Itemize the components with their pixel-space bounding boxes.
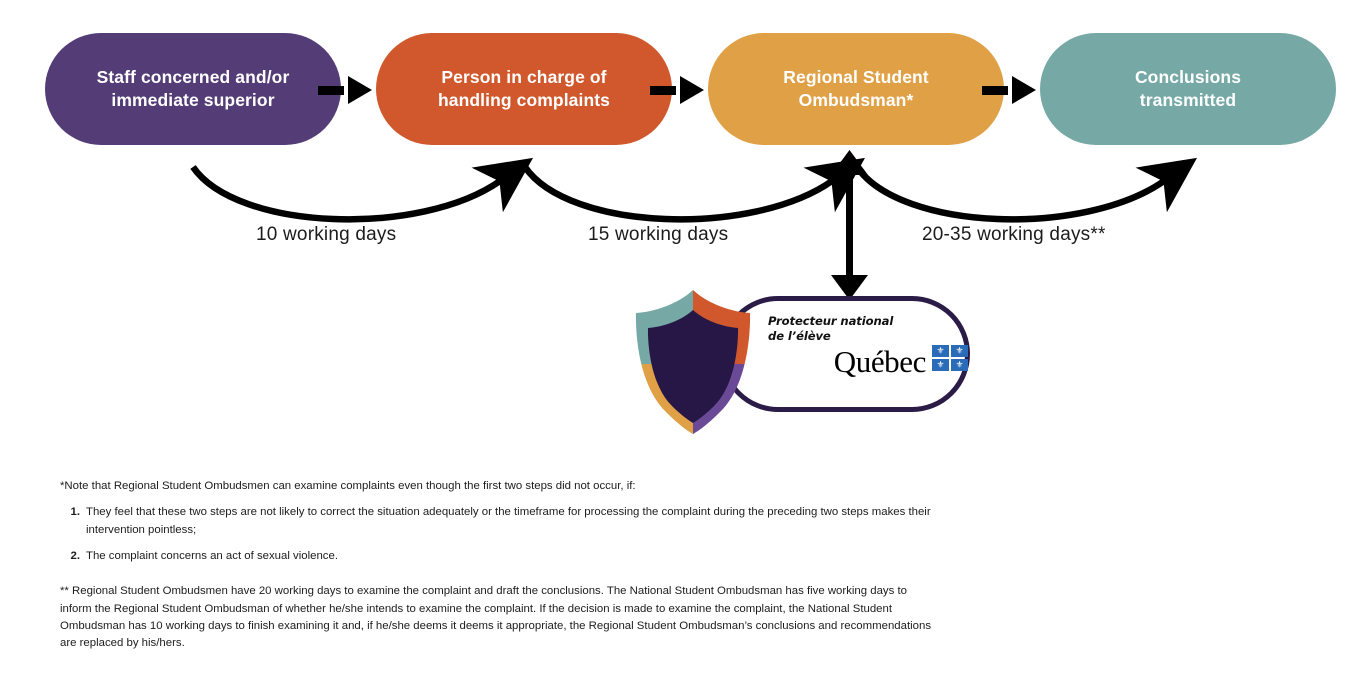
duration-label-2: 15 working days xyxy=(588,224,728,246)
curved-arrow-step1-step2 xyxy=(193,167,500,219)
svg-text:⚜: ⚜ xyxy=(936,346,944,356)
footnote-item-text: They feel that these two steps are not l… xyxy=(86,506,931,535)
flow-step-label-line1: Conclusions xyxy=(1135,66,1241,89)
footnote-list-item: 2. The complaint concerns an act of sexu… xyxy=(60,548,940,565)
flow-step-label-line2: immediate superior xyxy=(97,89,290,112)
arrow-right-icon xyxy=(680,76,704,104)
quebec-wordmark: Québec xyxy=(834,346,926,377)
connector-bar xyxy=(982,86,1008,95)
flow-step-label-line1: Regional Student xyxy=(783,66,929,89)
footnote-list-item: 1. They feel that these two steps are no… xyxy=(60,504,940,539)
flow-step-label-line1: Person in charge of xyxy=(438,66,610,89)
footnote-lead: *Note that Regional Student Ombudsmen ca… xyxy=(60,478,940,495)
connector-bar xyxy=(318,86,344,95)
shield-icon xyxy=(628,288,758,436)
connector-arrow-1 xyxy=(318,82,378,98)
logo-org-line2: de l’élève xyxy=(768,329,968,344)
flow-step-person-in-charge: Person in charge of handling complaints xyxy=(376,33,672,145)
quebec-flag-icon: ⚜ ⚜ ⚜ ⚜ xyxy=(932,345,968,376)
svg-text:⚜: ⚜ xyxy=(955,346,963,356)
connector-arrow-2 xyxy=(650,82,710,98)
organization-logo: Protecteur national de l’élève Québec xyxy=(628,288,976,436)
duration-label-1: 10 working days xyxy=(256,224,396,246)
logo-org-line1: Protecteur national xyxy=(768,314,968,329)
arrow-up-icon xyxy=(831,150,868,175)
footnotes: *Note that Regional Student Ombudsmen ca… xyxy=(60,478,940,653)
flow-step-label-line1: Staff concerned and/or xyxy=(97,66,290,89)
footnote-item-number: 2. xyxy=(60,548,80,565)
vertical-double-arrow xyxy=(831,150,868,300)
connector-bar xyxy=(650,86,676,95)
flow-step-regional-student-ombudsman: Regional Student Ombudsman* xyxy=(708,33,1004,145)
duration-label-3: 20-35 working days** xyxy=(922,224,1106,246)
flow-step-conclusions-transmitted: Conclusions transmitted xyxy=(1040,33,1336,145)
flow-step-label-line2: transmitted xyxy=(1135,89,1241,112)
logo-brand-block: Protecteur national de l’élève Québec xyxy=(768,314,968,377)
connector-arrow-3 xyxy=(982,82,1042,98)
process-flow-diagram: Staff concerned and/or immediate superio… xyxy=(0,0,1362,691)
flow-step-label-line2: handling complaints xyxy=(438,89,610,112)
arrow-right-icon xyxy=(1012,76,1036,104)
footnote-tail: ** Regional Student Ombudsmen have 20 wo… xyxy=(60,583,940,652)
curved-arrow-step2-step3 xyxy=(525,167,832,219)
svg-text:⚜: ⚜ xyxy=(955,360,963,370)
flow-step-staff-concerned: Staff concerned and/or immediate superio… xyxy=(45,33,341,145)
footnote-item-number: 1. xyxy=(60,504,80,521)
footnote-item-text: The complaint concerns an act of sexual … xyxy=(86,550,338,562)
svg-text:⚜: ⚜ xyxy=(936,360,944,370)
curved-arrow-step3-step4 xyxy=(857,167,1164,219)
flow-step-label-line2: Ombudsman* xyxy=(783,89,929,112)
footnote-list: 1. They feel that these two steps are no… xyxy=(60,504,940,565)
arrow-right-icon xyxy=(348,76,372,104)
